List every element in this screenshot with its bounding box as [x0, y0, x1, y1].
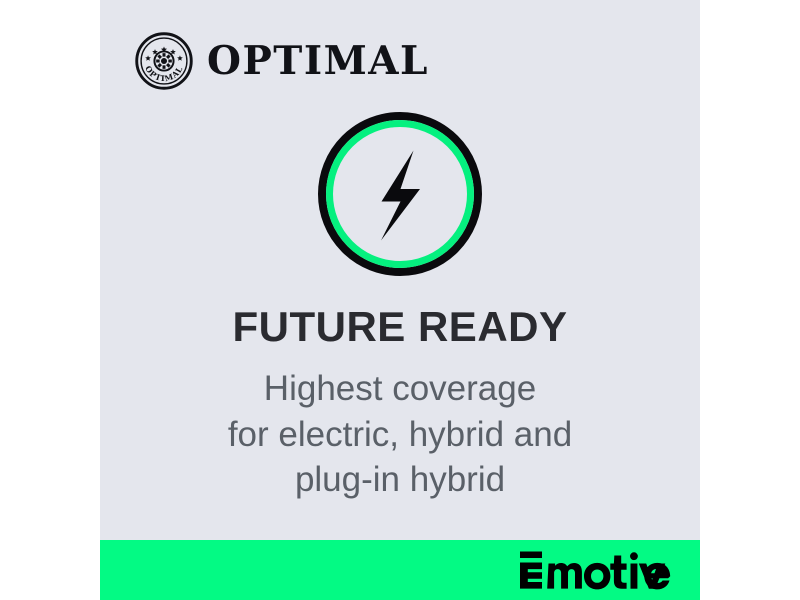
headline: FUTURE READY	[120, 305, 680, 349]
subcopy-line-1: Highest coverage	[120, 366, 680, 412]
brand-wordmark: OPTIMAL	[207, 42, 429, 81]
screenshot-canvas: OPTIMAL	[0, 0, 800, 600]
lightning-bolt-in-circle-icon	[318, 112, 482, 276]
subcopy-line-3: plug-in hybrid	[120, 457, 680, 503]
optimal-badge-emblem-icon: OPTIMAL	[135, 32, 193, 90]
subcopy-line-2: for electric, hybrid and	[120, 412, 680, 458]
gear-wheel-icon	[154, 51, 173, 70]
emotive-logo-icon	[520, 549, 678, 591]
copy-block: FUTURE READY Highest coverage for electr…	[100, 305, 700, 503]
subcopy: Highest coverage for electric, hybrid an…	[120, 366, 680, 503]
brand-lockup: OPTIMAL	[135, 32, 429, 90]
promo-card: OPTIMAL	[100, 0, 700, 600]
footer-band	[100, 540, 700, 600]
